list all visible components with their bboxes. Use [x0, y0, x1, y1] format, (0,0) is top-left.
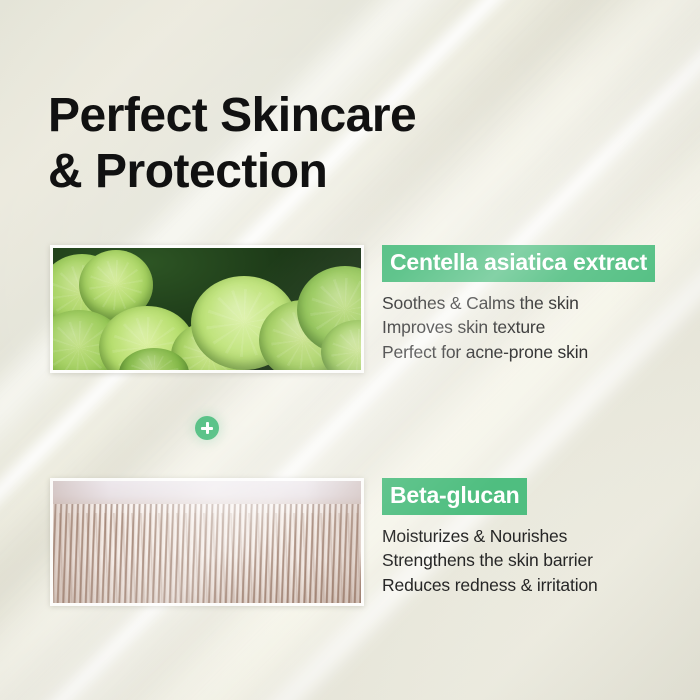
- page-title: Perfect Skincare & Protection: [48, 88, 648, 200]
- plus-icon: [195, 416, 219, 440]
- mushroom-gills-artwork: [53, 481, 361, 603]
- benefit-item: Reduces redness & irritation: [382, 573, 696, 597]
- centella-info: Centella asiatica extract Soothes & Calm…: [382, 245, 696, 364]
- beta-glucan-benefit-list: Moisturizes & Nourishes Strengthens the …: [382, 524, 696, 597]
- skincare-infographic-poster: Perfect Skincare & Protection: [0, 0, 700, 700]
- centella-benefit-list: Soothes & Calms the skin Improves skin t…: [382, 291, 696, 364]
- benefit-item: Soothes & Calms the skin: [382, 291, 696, 315]
- benefit-item: Strengthens the skin barrier: [382, 548, 696, 572]
- beta-glucan-info: Beta-glucan Moisturizes & Nourishes Stre…: [382, 478, 696, 597]
- mushroom-gill-shading: [53, 481, 361, 603]
- mushroom-gills-photo: [50, 478, 364, 606]
- benefit-item: Perfect for acne-prone skin: [382, 340, 696, 364]
- centella-leaves-artwork: [53, 248, 361, 370]
- benefit-item: Improves skin texture: [382, 315, 696, 339]
- benefit-item: Moisturizes & Nourishes: [382, 524, 696, 548]
- ingredient-row-beta-glucan: Beta-glucan Moisturizes & Nourishes Stre…: [0, 478, 700, 610]
- centella-leaves-photo: [50, 245, 364, 373]
- ingredient-row-centella: Centella asiatica extract Soothes & Calm…: [0, 245, 700, 377]
- ingredient-tag-centella: Centella asiatica extract: [382, 245, 655, 282]
- ingredient-tag-beta-glucan: Beta-glucan: [382, 478, 527, 515]
